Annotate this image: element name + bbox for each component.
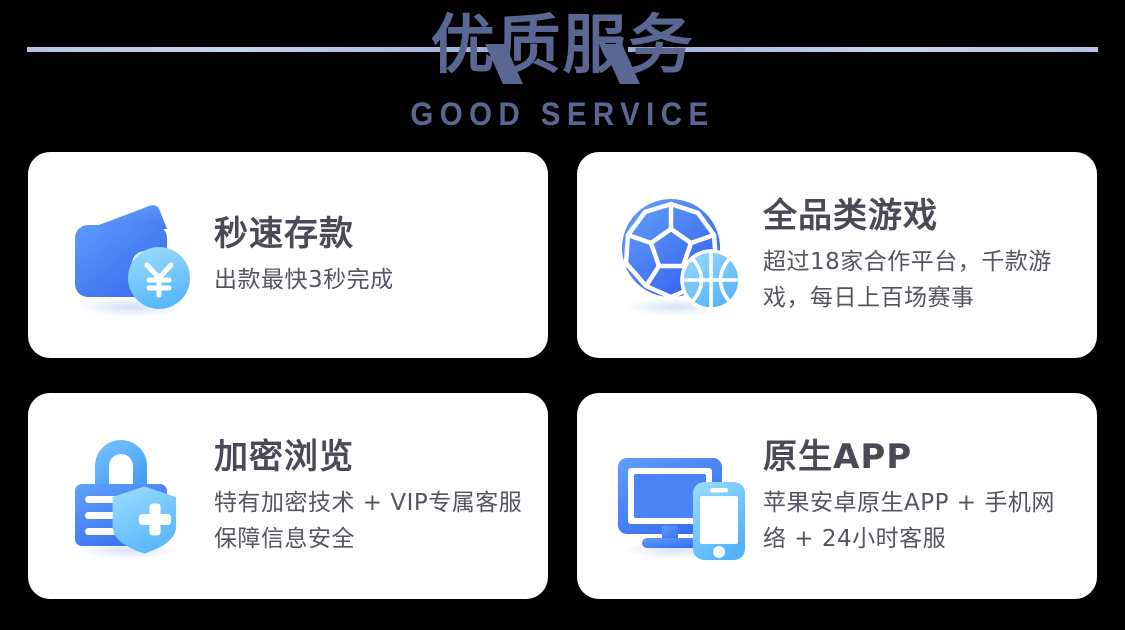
soccer-basketball-icon (605, 180, 755, 330)
feature-card-subtitle: 特有加密技术 + VIP专属客服保障信息安全 (214, 485, 528, 557)
wallet-yen-icon (56, 180, 206, 330)
feature-card-title: 全品类游戏 (763, 194, 1077, 238)
feature-card-encryption[interactable]: 加密浏览 特有加密技术 + VIP专属客服保障信息安全 (28, 393, 548, 599)
promo-page: 优质服务 GOOD SERVICE (0, 0, 1125, 630)
feature-card-title: 原生APP (763, 435, 1077, 479)
feature-card-title: 加密浏览 (214, 435, 528, 479)
feature-card-title: 秒速存款 (214, 212, 528, 256)
feature-card-text: 全品类游戏 超过18家合作平台，千款游戏，每日上百场赛事 (755, 194, 1077, 316)
feature-card-subtitle: 苹果安卓原生APP + 手机网络 + 24小时客服 (763, 485, 1077, 557)
feature-card-text: 原生APP 苹果安卓原生APP + 手机网络 + 24小时客服 (755, 435, 1077, 557)
monitor-phone-icon (605, 421, 755, 571)
feature-card-subtitle: 超过18家合作平台，千款游戏，每日上百场赛事 (763, 244, 1077, 316)
feature-card-games[interactable]: 全品类游戏 超过18家合作平台，千款游戏，每日上百场赛事 (577, 152, 1097, 358)
feature-card-text: 加密浏览 特有加密技术 + VIP专属客服保障信息安全 (206, 435, 528, 557)
page-subtitle: GOOD SERVICE (45, 96, 1080, 132)
feature-card-native-app[interactable]: 原生APP 苹果安卓原生APP + 手机网络 + 24小时客服 (577, 393, 1097, 599)
lock-shield-icon (56, 421, 206, 571)
feature-card-text: 秒速存款 出款最快3秒完成 (206, 212, 528, 298)
feature-card-deposit[interactable]: 秒速存款 出款最快3秒完成 (28, 152, 548, 358)
feature-card-subtitle: 出款最快3秒完成 (214, 262, 528, 298)
feature-card-grid: 秒速存款 出款最快3秒完成 (28, 152, 1097, 599)
page-header: 优质服务 GOOD SERVICE (0, 0, 1125, 140)
page-title: 优质服务 (0, 6, 1125, 86)
